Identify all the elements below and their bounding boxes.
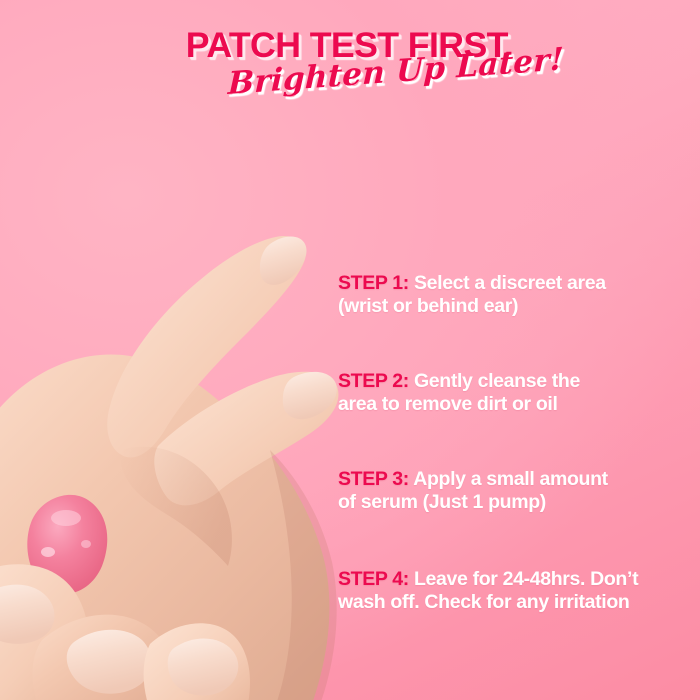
step-3-text-1: Apply a small amount xyxy=(413,468,608,490)
step-3-text-2: of serum (Just 1 pump) xyxy=(338,491,688,514)
step-item-2: STEP 2: Gently cleanse the area to remov… xyxy=(338,370,688,416)
poster-canvas: PATCH TEST FIRST, Brighten Up Later! xyxy=(0,0,700,700)
step-3-line-1: STEP 3: Apply a small amount xyxy=(338,468,688,491)
step-4-text-2: wash off. Check for any irritation xyxy=(338,591,688,614)
step-4-text-1: Leave for 24-48hrs. Don’t xyxy=(414,568,638,590)
step-1-line-1: STEP 1: Select a discreet area xyxy=(338,272,688,295)
step-item-3: STEP 3: Apply a small amount of serum (J… xyxy=(338,468,688,514)
step-1-label: STEP 1: xyxy=(338,272,409,294)
step-2-label: STEP 2: xyxy=(338,370,409,392)
step-item-4: STEP 4: Leave for 24-48hrs. Don’t wash o… xyxy=(338,568,688,614)
headline-script: Brighten Up Later! xyxy=(227,41,564,102)
headline-block: PATCH TEST FIRST, Brighten Up Later! xyxy=(0,28,700,102)
step-4-label: STEP 4: xyxy=(338,568,409,590)
step-2-text-2: area to remove dirt or oil xyxy=(338,393,688,416)
step-4-line-1: STEP 4: Leave for 24-48hrs. Don’t xyxy=(338,568,688,591)
step-3-label: STEP 3: xyxy=(338,468,409,490)
step-1-text-2: (wrist or behind ear) xyxy=(338,295,688,318)
step-2-text-1: Gently cleanse the xyxy=(414,370,580,392)
step-2-line-1: STEP 2: Gently cleanse the xyxy=(338,370,688,393)
steps-list: STEP 1: Select a discreet area (wrist or… xyxy=(338,272,688,614)
step-item-1: STEP 1: Select a discreet area (wrist or… xyxy=(338,272,688,318)
headline-primary: PATCH TEST FIRST, xyxy=(186,28,513,64)
step-1-text-1: Select a discreet area xyxy=(414,272,606,294)
